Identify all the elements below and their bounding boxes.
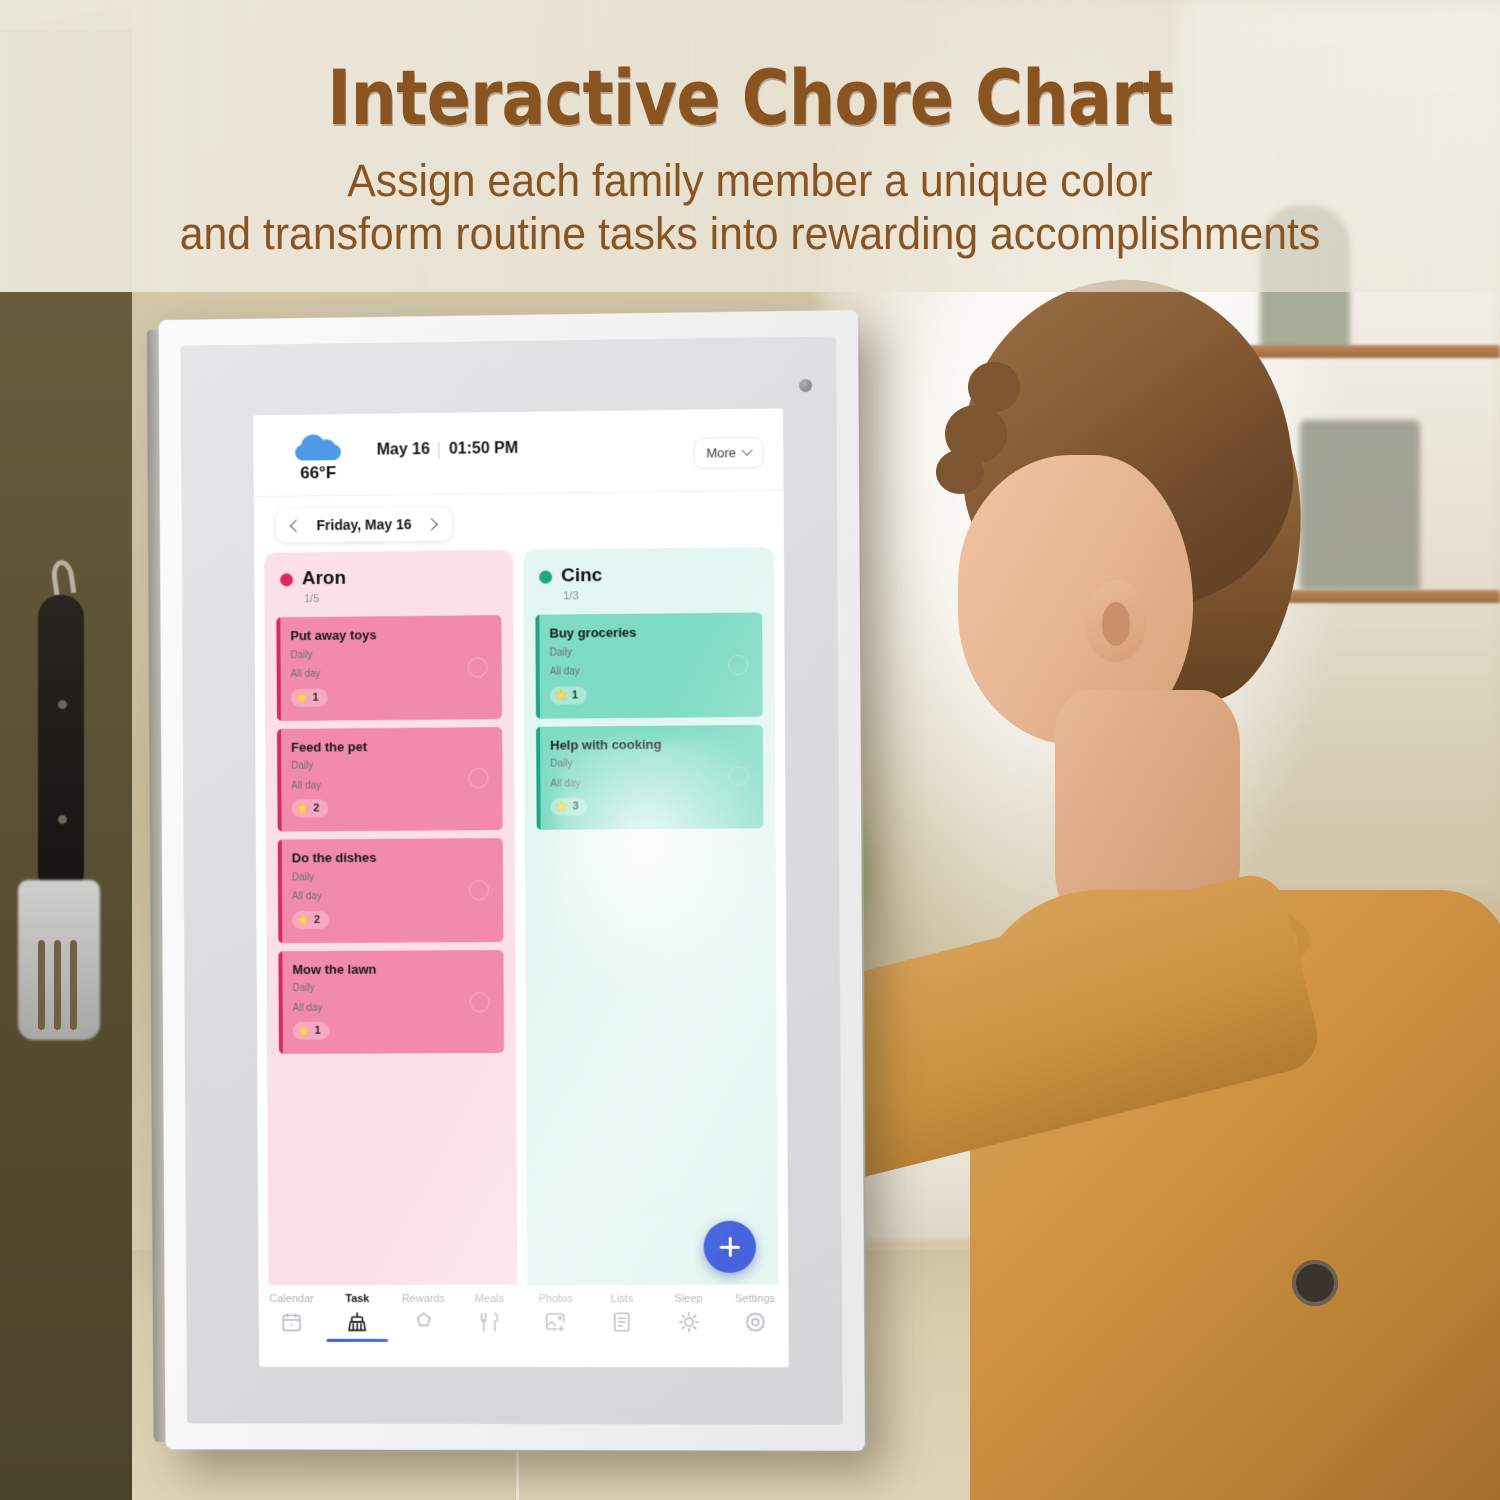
tablet-screen: 66°F May 16 01:50 PM More Friday, May 16	[253, 408, 789, 1367]
task-complete-checkbox[interactable]	[468, 657, 488, 677]
date-navigator-bar: Friday, May 16	[254, 491, 784, 553]
task-card[interactable]: Help with cooking Daily All day 3	[536, 724, 763, 830]
task-star-count: 1	[313, 691, 319, 703]
star-icon	[411, 1310, 435, 1334]
member-name: Cinc	[561, 565, 602, 587]
nav-item-settings[interactable]: Settings	[722, 1293, 789, 1334]
task-card[interactable]: Put away toys Daily All day 1	[276, 615, 502, 720]
nav-label: Lists	[611, 1293, 634, 1305]
front-camera	[799, 379, 812, 392]
add-task-button[interactable]	[703, 1221, 756, 1273]
chore-board: Aron 1/5 Put away toys Daily All day	[254, 547, 788, 1295]
task-list-aron: Put away toys Daily All day 1 Feed the	[264, 615, 516, 1054]
nav-item-task[interactable]: Task	[324, 1293, 390, 1334]
task-time: All day	[293, 1001, 491, 1016]
sweatshirt-logo	[1292, 1260, 1338, 1306]
task-complete-checkbox[interactable]	[469, 880, 489, 900]
task-accent-bar	[278, 840, 283, 943]
spatula-slot	[70, 940, 77, 1030]
more-button[interactable]: More	[694, 437, 763, 469]
task-complete-checkbox[interactable]	[728, 655, 748, 675]
task-time: All day	[550, 664, 750, 680]
header-time: 01:50 PM	[449, 440, 518, 459]
task-card[interactable]: Buy groceries Daily All day 1	[535, 612, 762, 718]
task-accent-bar	[278, 951, 283, 1054]
task-star-count: 2	[314, 914, 320, 926]
task-recurrence: Daily	[291, 758, 489, 774]
spatula-slot	[54, 940, 61, 1030]
member-progress: 1/5	[304, 591, 513, 605]
nav-label: Task	[345, 1293, 369, 1305]
member-header-aron[interactable]: Aron 1/5	[264, 550, 513, 618]
member-column-aron: Aron 1/5 Put away toys Daily All day	[264, 550, 517, 1295]
chevron-down-icon	[741, 444, 752, 455]
ear-inner	[1102, 602, 1130, 646]
nav-label: Settings	[735, 1293, 775, 1305]
star-icon	[554, 800, 568, 814]
task-recurrence: Daily	[550, 644, 750, 660]
star-icon	[295, 690, 309, 704]
star-icon	[296, 913, 310, 927]
document-icon	[610, 1310, 634, 1334]
task-star-badge: 3	[550, 798, 587, 816]
task-time: All day	[291, 778, 489, 794]
task-time: All day	[291, 666, 489, 682]
nav-item-lists[interactable]: Lists	[589, 1293, 656, 1334]
plus-icon	[719, 1236, 741, 1258]
task-card[interactable]: Do the dishes Daily All day 2	[278, 838, 504, 943]
task-star-badge: 1	[293, 1022, 330, 1040]
task-list-cinc: Buy groceries Daily All day 1 Help wit	[523, 612, 775, 830]
hair-curl	[968, 362, 1020, 412]
nav-item-rewards[interactable]: Rewards	[390, 1293, 456, 1334]
marketing-banner: Interactive Chore Chart Assign each fami…	[0, 0, 1500, 292]
task-time: All day	[292, 889, 490, 905]
task-complete-checkbox[interactable]	[729, 767, 749, 787]
banner-subtitle-line2: and transform routine tasks into rewardi…	[38, 207, 1463, 260]
datetime-separator	[439, 441, 440, 458]
task-accent-bar	[276, 617, 281, 720]
task-star-count: 1	[315, 1025, 321, 1037]
utensil-rivet	[58, 815, 67, 824]
photo-add-icon	[544, 1310, 568, 1334]
wall-mounted-tablet: 66°F May 16 01:50 PM More Friday, May 16	[159, 310, 865, 1451]
task-recurrence: Daily	[292, 870, 490, 886]
weather-widget[interactable]: 66°F	[279, 432, 357, 484]
hair-curl	[936, 450, 984, 494]
task-star-badge: 2	[292, 911, 329, 929]
member-progress: 1/3	[563, 588, 774, 602]
gear-icon	[743, 1310, 767, 1334]
task-title: Mow the lawn	[292, 961, 490, 978]
nav-item-photos[interactable]: Photos	[523, 1293, 590, 1334]
nav-item-calendar[interactable]: Calendar	[259, 1293, 325, 1334]
header-date: May 16	[377, 441, 430, 460]
task-card[interactable]: Mow the lawn Daily All day 1	[278, 950, 504, 1054]
banner-title: Interactive Chore Chart	[105, 60, 1395, 136]
task-title: Help with cooking	[550, 736, 750, 753]
tablet-frame: 66°F May 16 01:50 PM More Friday, May 16	[159, 310, 865, 1451]
nav-label: Rewards	[402, 1293, 445, 1305]
app-header: 66°F May 16 01:50 PM More	[253, 408, 783, 497]
active-tab-indicator	[327, 1338, 389, 1342]
task-star-count: 3	[573, 801, 579, 813]
datetime-display: May 16 01:50 PM	[377, 440, 518, 460]
spatula-slot	[38, 940, 45, 1030]
task-accent-bar	[535, 615, 540, 719]
task-star-badge: 1	[291, 688, 328, 706]
star-icon	[297, 1024, 311, 1038]
date-navigator[interactable]: Friday, May 16	[276, 507, 453, 543]
task-accent-bar	[536, 726, 541, 830]
nav-label: Sleep	[674, 1293, 702, 1305]
task-complete-checkbox[interactable]	[470, 992, 490, 1012]
more-button-label: More	[706, 445, 736, 460]
calendar-icon	[280, 1310, 304, 1334]
chevron-right-icon[interactable]	[426, 518, 439, 531]
task-star-badge: 1	[550, 686, 587, 704]
banner-subtitle-line1: Assign each family member a unique color	[38, 154, 1463, 207]
task-recurrence: Daily	[292, 981, 490, 996]
task-star-count: 2	[313, 803, 319, 815]
task-star-badge: 2	[291, 800, 328, 818]
member-name: Aron	[302, 568, 346, 590]
task-complete-checkbox[interactable]	[468, 769, 488, 789]
cloud-icon	[292, 432, 344, 461]
chevron-left-icon[interactable]	[290, 519, 303, 532]
nav-label: Meals	[475, 1293, 504, 1305]
task-title: Buy groceries	[549, 624, 749, 642]
member-header-cinc[interactable]: Cinc 1/3	[523, 547, 774, 615]
member-column-cinc: Cinc 1/3 Buy groceries Daily All day	[523, 547, 778, 1295]
task-card[interactable]: Feed the pet Daily All day 2	[277, 727, 503, 832]
task-recurrence: Daily	[290, 647, 488, 663]
utensil-rivet	[58, 700, 67, 709]
nav-item-meals[interactable]: Meals	[456, 1293, 522, 1334]
sun-icon	[677, 1310, 701, 1334]
task-star-count: 1	[572, 689, 578, 701]
task-accent-bar	[277, 729, 282, 832]
hanging-utensil-handle	[38, 595, 84, 895]
star-icon	[554, 688, 568, 702]
star-icon	[295, 802, 309, 816]
nav-label: Calendar	[269, 1293, 313, 1305]
task-title: Do the dishes	[292, 849, 490, 866]
task-recurrence: Daily	[550, 756, 750, 772]
nav-item-sleep[interactable]: Sleep	[655, 1293, 722, 1334]
member-color-dot	[539, 570, 552, 583]
child-user	[840, 250, 1500, 1500]
broom-icon	[346, 1310, 370, 1334]
task-title: Put away toys	[290, 626, 488, 644]
temperature-value: 66°F	[279, 463, 357, 484]
task-time: All day	[550, 776, 750, 792]
member-color-dot	[280, 573, 293, 586]
bottom-navigation: Calendar Task	[259, 1285, 789, 1367]
task-title: Feed the pet	[291, 738, 489, 755]
nav-label: Photos	[538, 1293, 572, 1305]
cutlery-icon	[478, 1310, 502, 1334]
current-date-label: Friday, May 16	[316, 516, 411, 533]
